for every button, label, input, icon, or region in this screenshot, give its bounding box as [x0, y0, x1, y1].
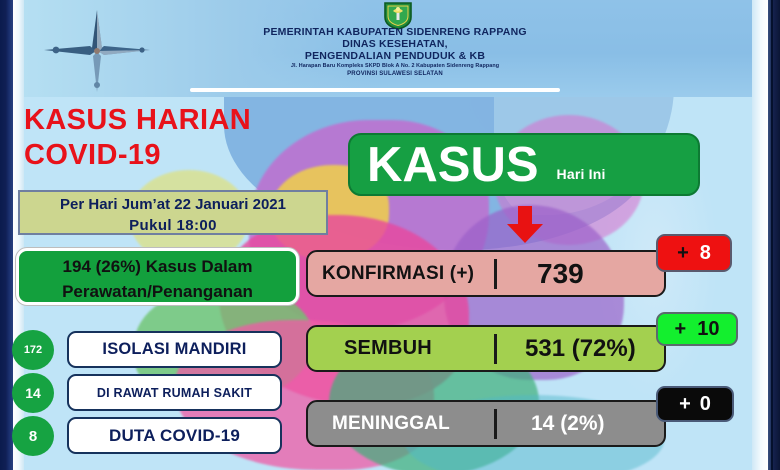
breakdown-row-dirawat-rumah-sakit: 14 DI RAWAT RUMAH SAKIT — [0, 373, 300, 413]
stat-value: 739 — [537, 258, 584, 290]
kasus-banner-word: KASUS — [367, 140, 539, 190]
stat-divider — [494, 334, 497, 364]
delta-badge-konfirmasi: + 8 — [656, 234, 732, 272]
frame-edge-right — [768, 0, 780, 470]
report-date-box: Per Hari Jum’at 22 Januari 2021 Pukul 18… — [18, 190, 328, 235]
breakdown-count-badge: 172 — [12, 330, 54, 370]
stat-divider — [494, 259, 497, 289]
page-title-line2: COVID-19 — [24, 138, 314, 173]
delta-value: 0 — [700, 393, 711, 416]
active-cases-line1: 194 (26%) Kasus Dalam — [19, 254, 296, 279]
stat-divider — [494, 409, 497, 439]
header-line-province: PROVINSI SULAWESI SELATAN — [200, 70, 590, 78]
breakdown-count-badge: 14 — [12, 373, 54, 413]
header-line-address: Jl. Harapan Baru Kompleks SKPD Blok A No… — [200, 63, 590, 70]
covid-daily-case-poster: PEMERINTAH KABUPATEN SIDENRENG RAPPANG D… — [0, 0, 780, 470]
compass-rose-icon — [42, 8, 152, 93]
breakdown-label: ISOLASI MANDIRI — [67, 331, 282, 368]
kasus-banner-subtitle: Hari Ini — [557, 166, 606, 182]
breakdown-label: DI RAWAT RUMAH SAKIT — [67, 374, 282, 411]
breakdown-count-badge: 8 — [12, 416, 54, 456]
stat-row-sembuh: SEMBUH 531 (72%) — [306, 325, 666, 372]
breakdown-row-duta-covid: 8 DUTA COVID-19 — [0, 416, 300, 456]
header-divider-rule — [190, 88, 560, 92]
frame-edge-right-inner — [752, 0, 768, 470]
header-text-block: PEMERINTAH KABUPATEN SIDENRENG RAPPANG D… — [200, 26, 590, 78]
kasus-banner: KASUS Hari Ini — [348, 133, 700, 196]
active-cases-box: 194 (26%) Kasus Dalam Perawatan/Penangan… — [16, 248, 299, 305]
delta-plus-sign: + — [679, 393, 691, 416]
stat-value: 531 (72%) — [525, 335, 636, 363]
delta-value: 10 — [697, 318, 719, 341]
delta-plus-sign: + — [675, 318, 687, 341]
delta-badge-sembuh: + 10 — [656, 312, 738, 346]
header-line-division: PENGENDALIAN PENDUDUK & KB — [200, 50, 590, 63]
delta-plus-sign: + — [677, 242, 689, 265]
delta-value: 8 — [700, 242, 711, 265]
stat-label: SEMBUH — [344, 337, 494, 360]
header-line-department: DINAS KESEHATAN, — [200, 38, 590, 50]
stat-label: KONFIRMASI (+) — [322, 263, 494, 285]
stat-label: MENINGGAL — [332, 413, 494, 435]
stat-value: 14 (2%) — [531, 412, 605, 436]
stat-row-meninggal: MENINGGAL 14 (2%) — [306, 400, 666, 447]
breakdown-row-isolasi-mandiri: 172 ISOLASI MANDIRI — [0, 330, 300, 370]
report-time-line: Pukul 18:00 — [20, 215, 326, 236]
report-date-line: Per Hari Jum’at 22 Januari 2021 — [20, 194, 326, 215]
stat-row-konfirmasi: KONFIRMASI (+) 739 — [306, 250, 666, 297]
breakdown-label: DUTA COVID-19 — [67, 417, 282, 454]
active-cases-line2: Perawatan/Penanganan — [19, 279, 296, 304]
delta-badge-meninggal: + 0 — [656, 386, 734, 422]
page-title-line1: KASUS HARIAN — [24, 103, 314, 138]
header-line-government: PEMERINTAH KABUPATEN SIDENRENG RAPPANG — [200, 26, 590, 38]
red-down-arrow-icon — [505, 206, 545, 244]
page-title: KASUS HARIAN COVID-19 — [24, 103, 314, 173]
